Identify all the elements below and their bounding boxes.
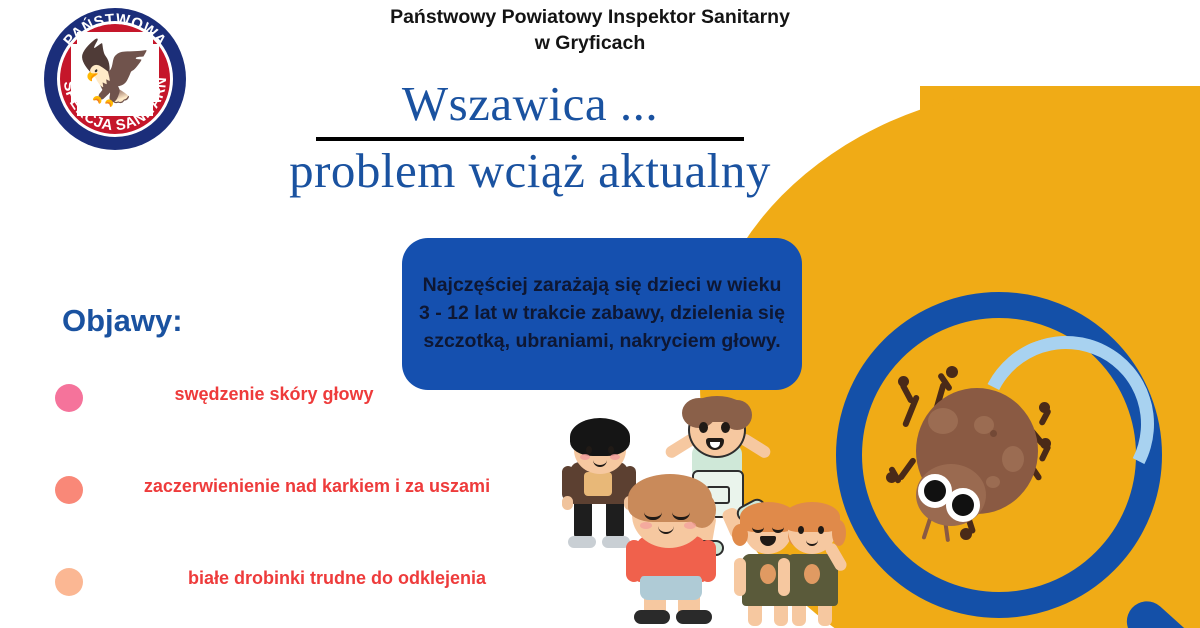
symptom-label-3: białe drobinki trudne do odklejenia (109, 566, 565, 590)
polish-eagle-icon: 🦅 (77, 34, 153, 114)
title-line-2: problem wciąż aktualny (150, 143, 910, 199)
header-line-2: w Gryficach (240, 30, 940, 56)
symptom-label-1: swędzenie skóry głowy (109, 382, 439, 406)
header-institution: Państwowy Powiatowy Inspektor Sanitarny … (240, 4, 940, 57)
title-divider (316, 137, 744, 141)
symptom-bullet-2 (55, 476, 83, 504)
child-red-shirt (626, 478, 722, 628)
page-title: Wszawica ... problem wciąż aktualny (150, 78, 910, 200)
head-louse-icon (874, 360, 1064, 550)
title-line-1: Wszawica ... (150, 78, 910, 129)
symptom-label-2: zaczerwienienie nad karkiem i za uszami (109, 474, 525, 498)
symptom-bullet-1 (55, 384, 83, 412)
symptom-item-2: zaczerwienienie nad karkiem i za uszami (55, 474, 525, 504)
symptom-item-1: swędzenie skóry głowy (55, 382, 455, 412)
info-speech-bubble: Najczęściej zarażają się dzieci w wieku … (402, 238, 802, 390)
poster-canvas: 🦅 PAŃSTWOWA INSPEKCJA SANITARNA Państwow… (0, 0, 1200, 628)
symptom-item-3: białe drobinki trudne do odklejenia (55, 566, 565, 596)
child-twin-right (778, 502, 848, 628)
symptom-bullet-3 (55, 568, 83, 596)
magnifying-glass (836, 292, 1200, 628)
info-bubble-text: Najczęściej zarażają się dzieci w wieku … (402, 272, 802, 355)
symptoms-heading: Objawy: (62, 303, 183, 339)
children-illustration (548, 392, 858, 628)
header-line-1: Państwowy Powiatowy Inspektor Sanitarny (240, 4, 940, 30)
magnifier-handle (1119, 593, 1200, 628)
